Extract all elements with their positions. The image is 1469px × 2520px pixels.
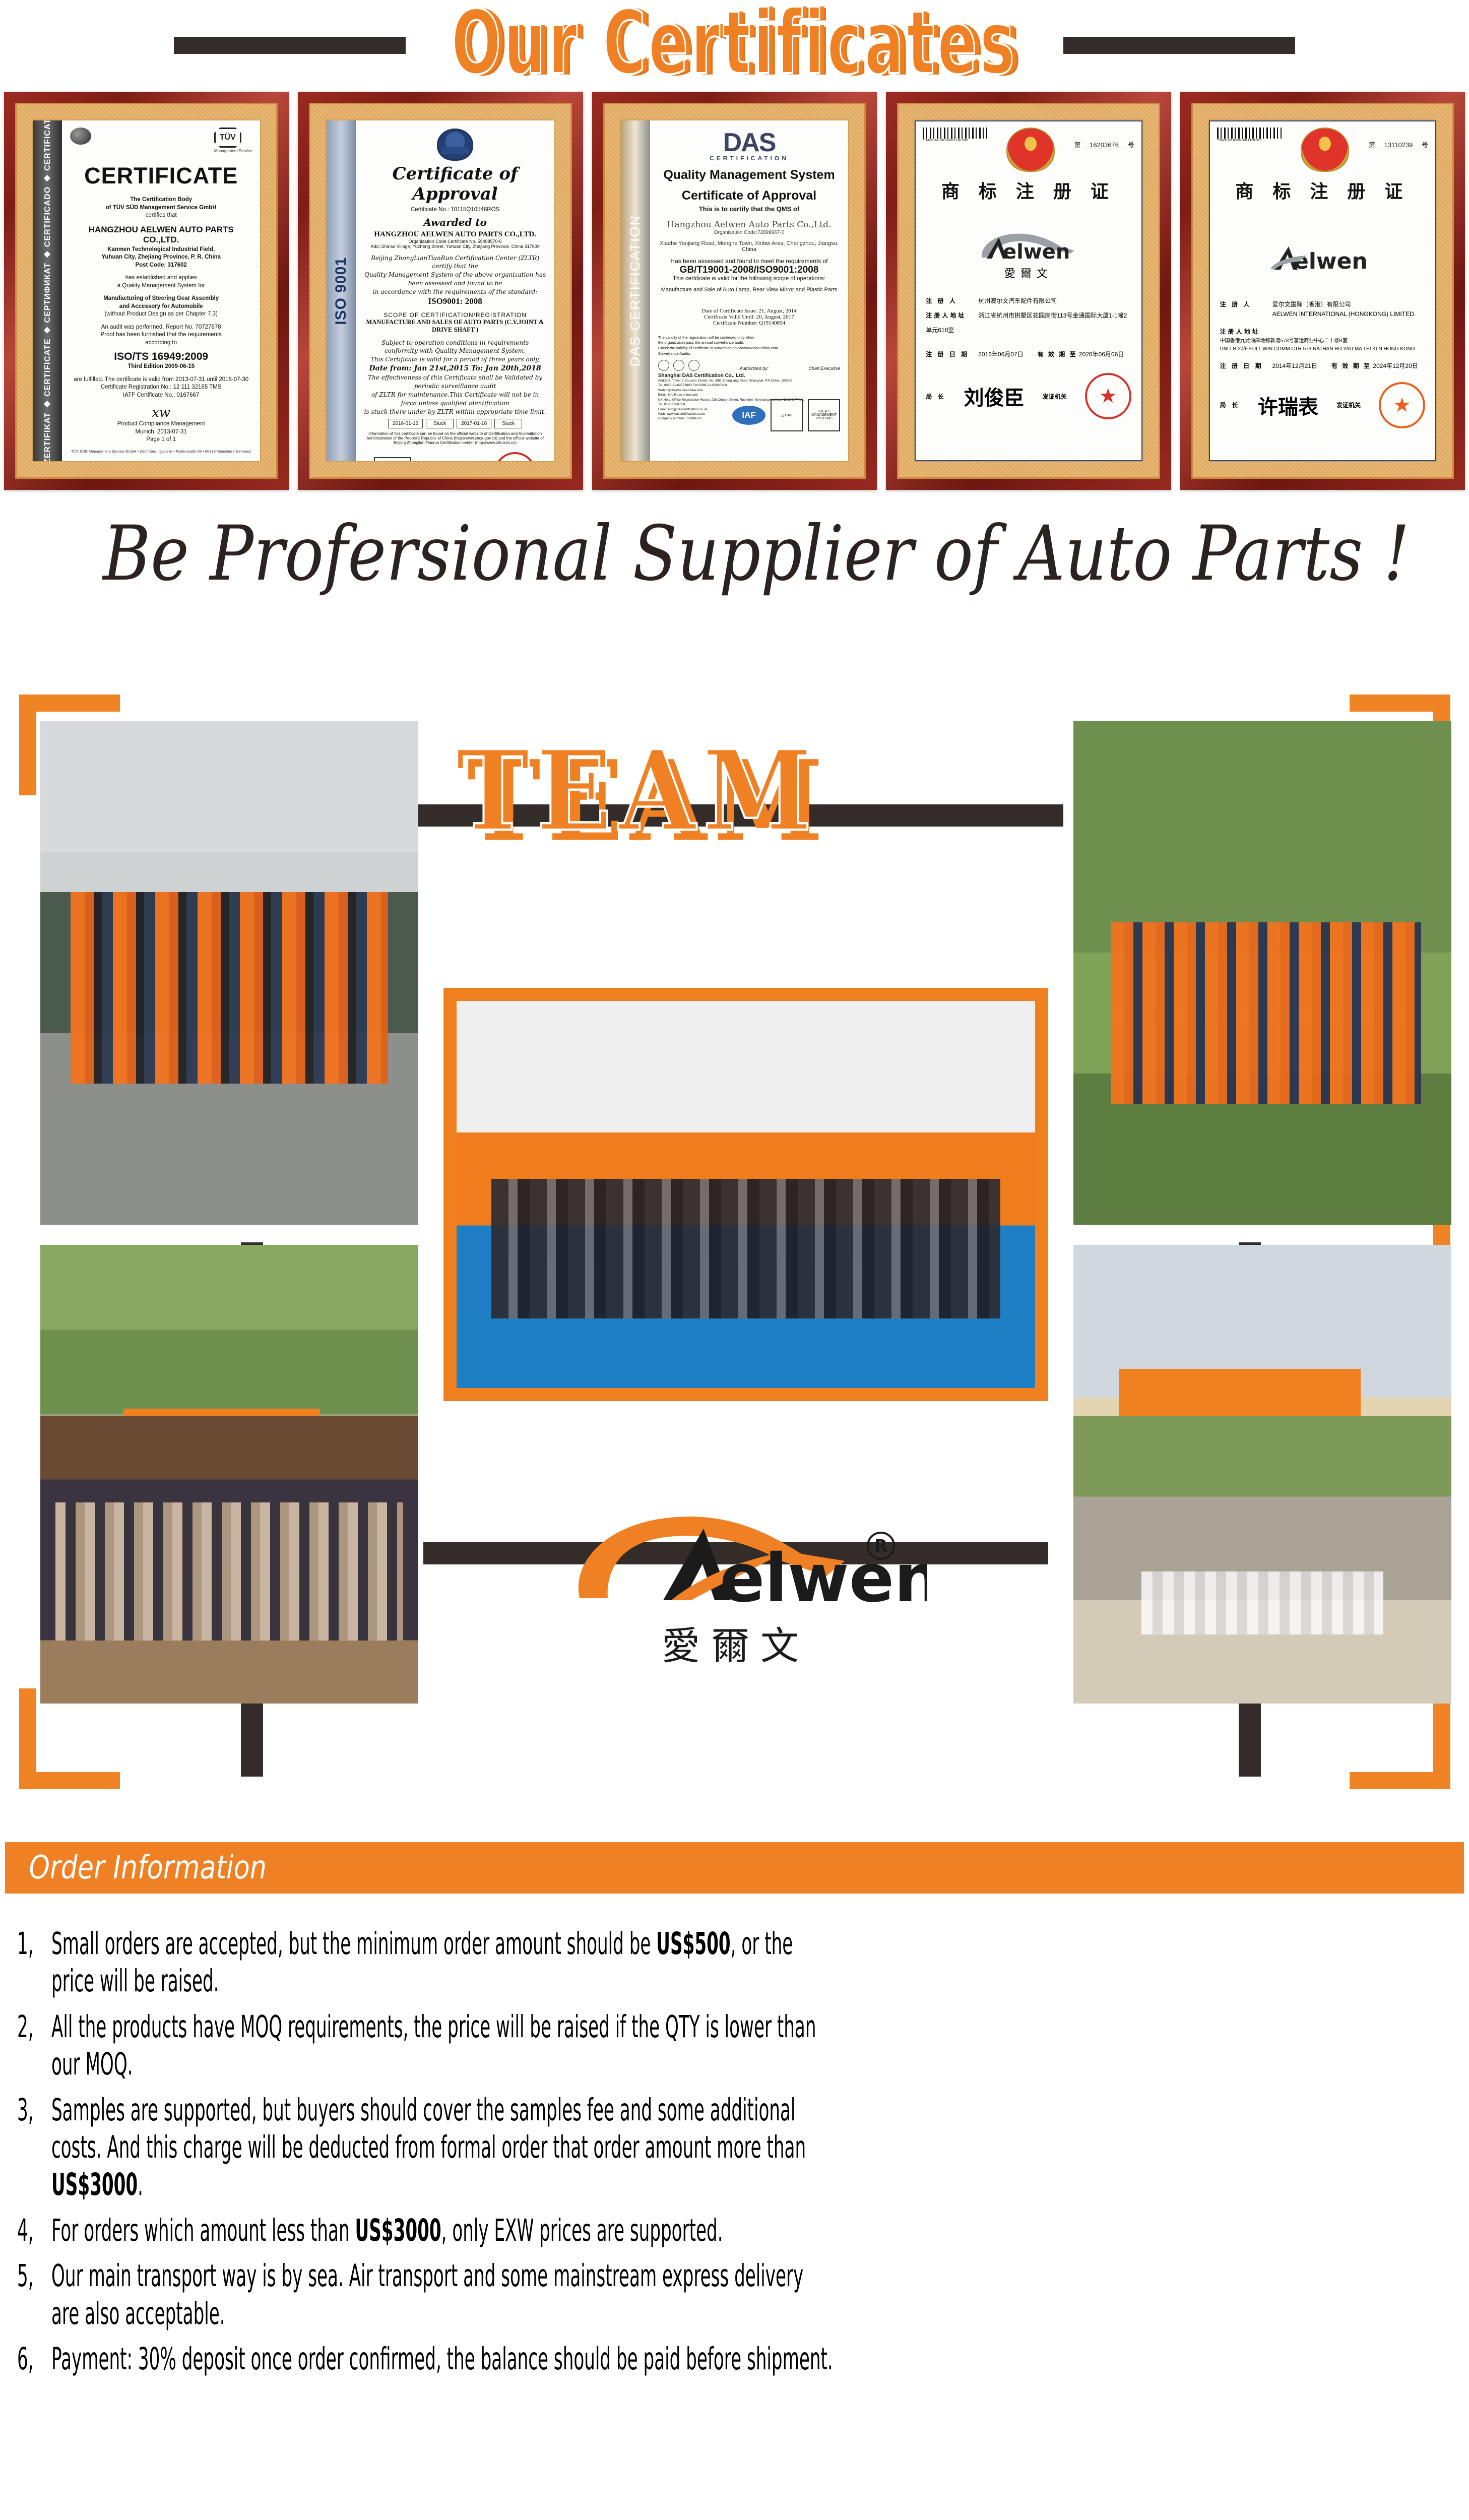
cert-address3: Post Code: 317602 xyxy=(70,262,252,270)
scc-accreditation-icon: SCC Accredited CB-MS / OCSM Accrédité CC… xyxy=(374,457,411,461)
cert-edition: Third Edition 2009-06-15 xyxy=(70,363,252,371)
certificate-sidebar-text: DAS CERTIFICATION xyxy=(627,215,643,367)
cert-scope2: and Accessory for Automobile xyxy=(70,303,252,311)
svg-text:elwen: elwen xyxy=(1294,248,1368,273)
certificates-header: Our Certificates xyxy=(0,0,1469,91)
order-item-text: All the products have MOQ requirements, … xyxy=(51,2008,836,2084)
team-photo-banquet[interactable] xyxy=(40,1416,418,1704)
order-item-text: For orders which amount less than US$300… xyxy=(51,2212,836,2249)
header-rule-left xyxy=(174,37,406,54)
cert-scope3: (without Product Design as per Chapter 7… xyxy=(70,310,252,319)
surveillance-stamp-1-text: Stuck xyxy=(426,419,454,428)
trademark-inner: *TMZC13110239D01T150115* 第 13110239 号 商 … xyxy=(1209,120,1436,461)
certificate-mat: ZERTIFIKAT ◆ CERTIFICATE ◆ СЕРТИФИКАТ ◆ … xyxy=(15,103,278,479)
barcode-text: *TMZC13110239D01T150115* xyxy=(1217,139,1282,142)
cert-note1: The validity of the registration will be… xyxy=(658,335,840,341)
cert-address2: Yuhuan City, Zhejiang Province, P. R. Ch… xyxy=(70,254,252,262)
slogan: Be Profersional Supplier of Auto Parts ! xyxy=(103,510,1366,598)
header-rule-right xyxy=(1063,37,1295,54)
cert-awarded: Awarded to xyxy=(364,216,546,228)
order-item: 3, Samples are supported, but buyers sho… xyxy=(17,2092,1452,2204)
cert-cond4: of ZLTR for maintenance.This Certificate… xyxy=(364,391,546,408)
das-logo-text: DAS xyxy=(723,128,776,157)
order-item-number: 5, xyxy=(17,2257,41,2333)
order-item-number: 3, xyxy=(17,2092,41,2204)
cert-org-code: Organization Code Certificate No.:594085… xyxy=(364,239,546,244)
cert-standard: GB/T19001-2008/ISO9001:2008 xyxy=(658,265,840,276)
tm-no-suffix: 号 xyxy=(1422,141,1428,149)
certificate-mat: DAS CERTIFICATION DAS CERTIFICATION Qual… xyxy=(603,103,866,479)
certificate-heading: CERTIFICATE xyxy=(70,163,252,189)
cert-cond2: This Certificate is valid for a period o… xyxy=(364,355,546,364)
certificate-paper: *TMZC13110239D01T150115* 第 13110239 号 商 … xyxy=(1208,119,1437,462)
svg-text:elwen: elwen xyxy=(1003,240,1070,263)
team-photo-office[interactable] xyxy=(40,721,418,1225)
order-item-text: Small orders are accepted, but the minim… xyxy=(51,1925,836,2000)
cert-body-line1: The Certification Body xyxy=(70,196,252,204)
tuv-caption: Management Service xyxy=(214,149,252,153)
cert-footer-addr: Add:505, Tower 2, Guoson Center, No. 388… xyxy=(658,379,840,383)
cert-scope: Manufacture and Sale of Auto Lamp, Rear … xyxy=(658,287,840,293)
certificate-paper: ISO 9001 Certificate of Approval Certifi… xyxy=(326,119,555,462)
cert-company: HANGZHOU AELWEN AUTO PARTS CO.,LTD. xyxy=(364,230,546,239)
aelwen-brand-block: elwen R 愛爾文 xyxy=(514,1499,957,1670)
cert-footer: TÜV SÜD Management Service GmbH • Zertif… xyxy=(70,449,252,454)
certificate-paper: DAS CERTIFICATION DAS CERTIFICATION Qual… xyxy=(620,119,849,462)
cert-body-line3: certifies that xyxy=(70,212,252,220)
cert-info1: Information of this certificate can be f… xyxy=(364,431,546,436)
certificate-sidebar: ISO 9001 xyxy=(327,120,356,461)
tm-row-value: 杭州澳尔文汽车配件有限公司 xyxy=(978,297,1057,304)
china-emblem-icon xyxy=(1006,128,1055,172)
cert-established2: a Quality Management System for xyxy=(70,282,252,290)
certificate-sidebar-text: ISO 9001 xyxy=(333,257,350,325)
iaf-icon: IAF xyxy=(732,406,765,425)
certificate-paper: ZERTIFIKAT ◆ CERTIFICATE ◆ СЕРТИФИКАТ ◆ … xyxy=(32,119,261,462)
team-photo-booth xyxy=(457,1001,1035,1388)
order-information-header: Order Information xyxy=(5,1842,1464,1894)
director-signature: 刘俊臣 xyxy=(964,382,1025,411)
cert-audit: An audit was performed, Report No. 70727… xyxy=(70,324,252,332)
tm-reg-date-label: 注 册 日 期 xyxy=(926,347,978,362)
certificates-row: ZERTIFIKAT ◆ CERTIFICATE ◆ СЕРТИФИКАТ ◆ … xyxy=(0,92,1469,490)
cert-footer-web: Web:http://www.das-china.com xyxy=(658,388,840,393)
surveillance-circle xyxy=(688,360,699,371)
barcode-icon xyxy=(923,128,987,139)
cert-validity: are fulfilled. The certificate is valid … xyxy=(70,376,252,384)
cert-footer-email: Email: info@das-china.com xyxy=(658,393,840,397)
svg-text:R: R xyxy=(874,1536,887,1556)
cert-address1: Kanmen Technological Industrial Field, xyxy=(70,246,252,254)
tm-row-label: 注册人地址 xyxy=(926,308,978,323)
surveillance-circle xyxy=(658,360,669,371)
cert-reg-no: Certificate Registration No.: 12 111 321… xyxy=(70,384,252,392)
trademark-office-seal-icon: ★ xyxy=(1085,373,1131,419)
cert-address: Add.:Sha'ao Village, Yucheng Street, Yuh… xyxy=(364,244,546,249)
aelwen-logo-icon: elwen R xyxy=(544,1499,927,1615)
das-logo: DAS xyxy=(658,128,840,158)
certificate-body: TÜV Management Service CERTIFICATE The C… xyxy=(62,120,260,461)
tm-director-label: 局 长 xyxy=(926,392,945,401)
order-item-number: 6, xyxy=(17,2341,41,2378)
tm-valid-label: 有 效 期 至 xyxy=(1331,362,1371,369)
tm-valid: 2024年12月20日 xyxy=(1373,362,1418,369)
corner-bracket-bottom-right xyxy=(1350,1772,1450,1789)
tm-row-value: 中国香港九龙油麻地弥敦道573号富运商业中心二十楼B室 UNIT B 20/F … xyxy=(1220,337,1415,353)
director-signature: 许瑞表 xyxy=(1258,391,1318,420)
cert-footer-tel: Tel: 0086-21-62773900 Fax:0086-21-620903… xyxy=(658,383,840,388)
cert-company-footer: Shanghai DAS Certification Co., Ltd. xyxy=(658,373,840,379)
tm-reg-date-label: 注 册 日 期 xyxy=(1220,361,1272,371)
certificate-heading: 商 标 注 册 证 xyxy=(1217,177,1428,203)
cert-sign-place: Munich, 2013-07-31 xyxy=(70,428,252,436)
svg-text:elwen: elwen xyxy=(720,1540,927,1615)
tm-row-label: 注 册 人 xyxy=(926,294,978,308)
cert-authorized-by: Authorized by: xyxy=(739,366,769,371)
cert-established1: has established and applies xyxy=(70,274,252,282)
cert-issue-date: Date of Certificate Issue: 21, August, 2… xyxy=(658,308,840,314)
team-photo-booth-frame[interactable] xyxy=(443,988,1048,1401)
cert-proof1: Proof has been furnished that the requir… xyxy=(70,331,252,339)
certificate-sidebar-text: ZERTIFIKAT ◆ CERTIFICATE ◆ СЕРТИФИКАТ ◆ … xyxy=(43,119,52,462)
tm-row-value: 爱尔文国际（香港）有限公司 AELWEN INTERNATIONAL (HONG… xyxy=(1272,300,1416,319)
tm-issuer-label: 发证机关 xyxy=(1336,401,1361,409)
tuv-icon: TÜV xyxy=(214,128,241,148)
cert-standard: ISO9001: 2008 xyxy=(364,296,546,306)
certificate-paper: *TMZC16203676D01T160704* 第 16203676 号 商 … xyxy=(914,119,1143,462)
certificate-trademark-cn[interactable]: *TMZC16203676D01T160704* 第 16203676 号 商 … xyxy=(886,92,1171,490)
cert-org-code: Organisation Code:72899967-0 xyxy=(658,230,840,235)
zltr-seal-icon: ★ xyxy=(494,452,536,461)
tm-row-label: 注册人地址 xyxy=(1220,327,1272,337)
order-item: 1, Small orders are accepted, but the mi… xyxy=(17,1925,1452,2000)
surveillance-stamp-2-text: Stuck xyxy=(494,419,522,428)
order-item: 2, All the products have MOQ requirement… xyxy=(17,2008,1452,2084)
cert-body2: Quality Management System of the above o… xyxy=(364,271,546,288)
cert-heading2: Certificate of Approval xyxy=(658,188,840,203)
das-accredit-icon: △ DAS xyxy=(771,399,803,431)
order-item: 5, Our main transport way is by sea. Air… xyxy=(17,2257,1452,2333)
cert-scope: MANUFACTURE AND SALES OF AUTO PARTS (C.V… xyxy=(364,319,546,334)
order-item: 4, For orders which amount less than US$… xyxy=(17,2212,1452,2249)
order-item-text: Samples are supported, but buyers should… xyxy=(51,2092,836,2204)
trademark-inner: *TMZC16203676D01T160704* 第 16203676 号 商 … xyxy=(915,120,1142,461)
china-emblem-icon xyxy=(1301,128,1349,172)
cert-body-line2: of TÜV SÜD Management Service GmbH xyxy=(70,204,252,212)
surveillance-circle xyxy=(673,360,684,371)
cert-note4: Surveillance Audits: xyxy=(658,351,840,357)
barcode-text: *TMZC16203676D01T160704* xyxy=(923,139,987,142)
cert-valid-for: This certificate is valid for the follow… xyxy=(658,276,840,282)
cert-note2: the organization pass the annual surveil… xyxy=(658,340,840,346)
tm-no: 13110239 xyxy=(1377,141,1420,149)
certificate-das[interactable]: DAS CERTIFICATION DAS CERTIFICATION Qual… xyxy=(592,92,877,490)
tm-no-prefix: 第 xyxy=(1074,141,1081,149)
das-logo-caption: CERTIFICATION xyxy=(658,155,840,162)
order-item-number: 1, xyxy=(17,1925,41,2000)
product-detail-page: Our Certificates ZERTIFIKAT ◆ CERTIFICAT… xyxy=(0,0,1469,2520)
tm-no: 16203676 xyxy=(1082,141,1126,149)
order-information-list: 1, Small orders are accepted, but the mi… xyxy=(0,1925,1469,2386)
brand-name-cn: 愛爾文 xyxy=(514,1615,957,1670)
cert-sign-role: Product Compliance Management xyxy=(70,420,252,428)
tm-issuer-label: 发证机关 xyxy=(1043,392,1067,401)
aelwen-logo-icon: elwen xyxy=(976,229,1081,263)
cert-note3: Check the validity of certificate at www… xyxy=(658,346,840,351)
team-photo-rock[interactable] xyxy=(1073,1416,1451,1704)
aelwen-logo-icon: elwen xyxy=(1264,239,1380,273)
certificate-heading: 商 标 注 册 证 xyxy=(923,177,1134,203)
cert-cond1: Subject to operation conditions in requi… xyxy=(364,339,546,356)
cert-page: Page 1 of 1 xyxy=(70,436,252,444)
globe-icon xyxy=(70,128,91,145)
tm-reg-date: 2014年12月21日 xyxy=(1272,362,1317,369)
certificate-sidebar: ZERTIFIKAT ◆ CERTIFICATE ◆ СЕРТИФИКАТ ◆ … xyxy=(33,120,62,461)
cert-info3: Beijing Zhonglian Tianrun Certification … xyxy=(364,440,546,445)
cert-body1: Beijing ZhongLianTianRun Certification C… xyxy=(364,254,546,271)
corner-bracket-bottom-left xyxy=(19,1772,120,1789)
cert-company: HANGZHOU AELWEN AUTO PARTS CO.,LTD. xyxy=(70,225,252,245)
cert-cond5: is stuck there under by ZLTR within appr… xyxy=(364,408,546,416)
cert-address: Xiaohe Yanjiang Road, Menghe Town, Xinbe… xyxy=(658,240,840,253)
tm-valid: 2026年06月06日 xyxy=(1079,351,1124,358)
tm-no-suffix: 号 xyxy=(1128,141,1134,149)
zltr-medal-icon xyxy=(437,129,473,161)
ukas-icon: U.K.A.S MANAGEMENT SYSTEMS xyxy=(808,399,840,431)
tm-valid-label: 有 效 期 至 xyxy=(1038,351,1077,358)
cert-proof2: according to xyxy=(70,339,252,347)
cert-valid-until: Certificate Valid Until: 20, August, 201… xyxy=(658,314,840,320)
order-item: 6, Payment: 30% deposit once order confi… xyxy=(17,2341,1452,2378)
surveillance-stamp-2-date: 2017-01-16 xyxy=(457,419,491,428)
certificate-mat: *TMZC16203676D01T160704* 第 16203676 号 商 … xyxy=(897,103,1160,479)
cert-scope1: Manufacturing of Steering Gear Assembly xyxy=(70,295,252,303)
cert-heading1: Quality Management System xyxy=(658,168,840,182)
order-item-number: 4, xyxy=(17,2212,41,2249)
certificate-iso-ts-16949[interactable]: ZERTIFIKAT ◆ CERTIFICATE ◆ СЕРТИФИКАТ ◆ … xyxy=(4,92,289,490)
cert-chief: Chief Executive xyxy=(809,366,841,371)
certificate-body: DAS CERTIFICATION Quality Management Sys… xyxy=(650,120,848,461)
order-information-heading: Order Information xyxy=(5,1842,1201,1894)
cert-number: Certificate No.: 10115Q10546ROS xyxy=(364,206,546,214)
certificate-sidebar: DAS CERTIFICATION xyxy=(621,120,650,461)
cert-scope-label: SCOPE OF CERTIFICATION/REGISTRATION xyxy=(364,311,546,319)
barcode-icon xyxy=(1217,128,1282,139)
certificate-mat: *TMZC13110239D01T150115* 第 13110239 号 商 … xyxy=(1191,103,1454,479)
certificate-heading: Certificate of Approval xyxy=(364,164,546,204)
cert-assessed: Has been assessed and found to meet the … xyxy=(658,258,840,265)
order-item-text: Payment: 30% deposit once order confirme… xyxy=(51,2341,836,2378)
team-photo-outdoor[interactable] xyxy=(1073,721,1451,1225)
signature: xw xyxy=(70,405,252,420)
cert-dates: Date from: Jan 21st,2015 To: Jan 20th,20… xyxy=(364,364,546,374)
cert-info2: Administration of the People's Republic … xyxy=(364,436,546,440)
cert-number: Certificate Number: Q19140894 xyxy=(658,320,840,326)
certificate-body: Certificate of Approval Certificate No.:… xyxy=(356,120,554,461)
cert-subtitle: This is to certify that the QMS of xyxy=(658,205,840,213)
tm-director-label: 局 长 xyxy=(1220,401,1240,409)
team-heading: TEAM xyxy=(456,726,819,856)
corner-bracket-top-left xyxy=(19,695,36,795)
page-title: Our Certificates xyxy=(452,0,1017,99)
tm-reg-date: 2016年06月07日 xyxy=(978,351,1023,358)
cert-cond3: The effectiveness of this Certificate sh… xyxy=(364,373,546,391)
tm-no-prefix: 第 xyxy=(1369,141,1375,149)
cert-company: Hangzhou Aelwen Auto Parts Co.,Ltd. xyxy=(658,220,840,230)
trademark-office-seal-icon: ★ xyxy=(1379,382,1425,428)
certificate-iso-9001[interactable]: ISO 9001 Certificate of Approval Certifi… xyxy=(298,92,583,490)
cert-body3: in accordance with the requirements of t… xyxy=(364,288,546,296)
order-item-text: Our main transport way is by sea. Air tr… xyxy=(51,2257,836,2333)
cert-standard: ISO/TS 16949:2009 xyxy=(70,351,252,363)
order-item-number: 2, xyxy=(17,2008,41,2084)
certificate-trademark-hk[interactable]: *TMZC13110239D01T150115* 第 13110239 号 商 … xyxy=(1180,92,1465,490)
surveillance-stamp-1-date: 2016-01-16 xyxy=(388,419,423,428)
tm-row-label: 注 册 人 xyxy=(1220,300,1272,309)
cert-iatf-no: IATF Certificate No.: 0167667 xyxy=(70,392,252,400)
certificate-mat: ISO 9001 Certificate of Approval Certifi… xyxy=(309,103,571,479)
brand-cn: 愛爾文 xyxy=(923,265,1134,281)
